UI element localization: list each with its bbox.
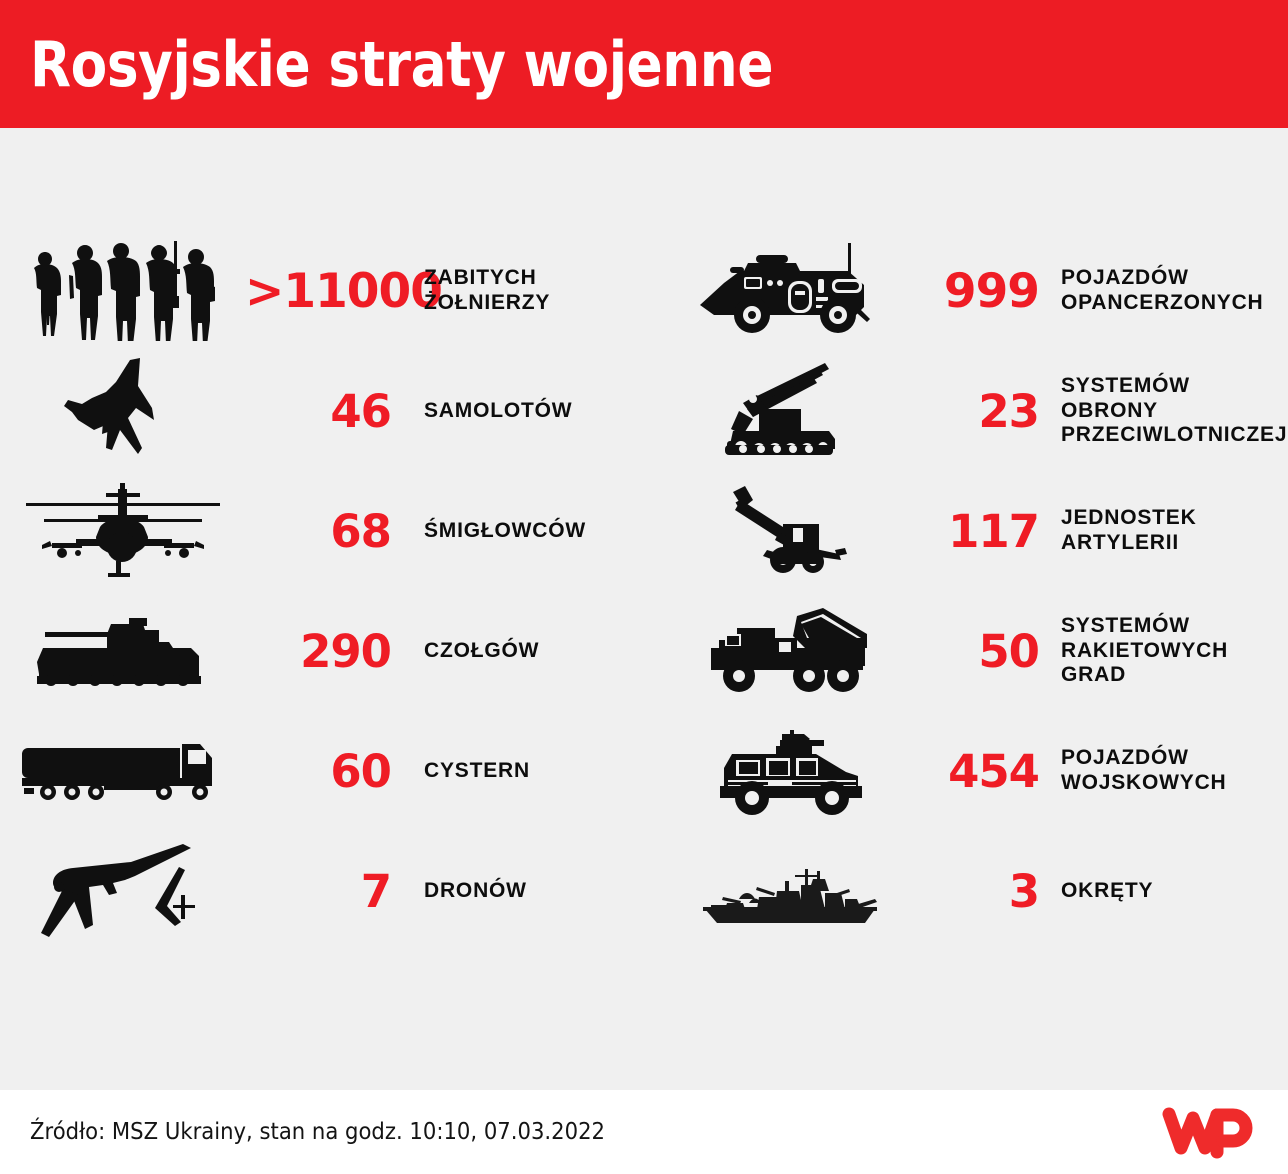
stat-value: >11000 (245, 268, 395, 315)
grad-rocket-launcher-icon (644, 591, 929, 711)
stat-label-line: PRZECIWLOTNICZEJ (1061, 423, 1288, 448)
stat-label: SYSTEMÓW RAKIETOWYCH GRAD (1039, 614, 1288, 688)
stat-row-soldiers: >11000 ZABITYCH ŻOŁNIERZY (0, 231, 644, 351)
stat-row-armored-vehicles: 999 POJAZDÓW OPANCERZONYCH (644, 231, 1288, 351)
tank-icon (0, 591, 245, 711)
source-text: Źródło: MSZ Ukrainy, stan na godz. 10:10… (30, 1119, 605, 1145)
stat-label: POJAZDÓW OPANCERZONYCH (1039, 266, 1288, 316)
stat-row-fuel-tankers: 60 CYSTERN (0, 711, 644, 831)
stat-label-line: ARTYLERII (1061, 531, 1288, 556)
stats-grid: >11000 ZABITYCH ŻOŁNIERZY 46 (0, 128, 1288, 1090)
stat-label-line: ZABITYCH (424, 266, 644, 291)
stat-label: JEDNOSTEK ARTYLERII (1039, 506, 1288, 556)
stat-label-line: ŚMIGŁOWCÓW (424, 519, 644, 544)
stat-value: 999 (929, 268, 1039, 315)
stat-row-air-defense: 23 SYSTEMÓW OBRONY PRZECIWLOTNICZEJ (644, 351, 1288, 471)
stat-label: CZOŁGÓW (395, 639, 644, 664)
stat-label-line: JEDNOSTEK (1061, 506, 1288, 531)
stat-label-line: OPANCERZONYCH (1061, 291, 1288, 316)
stat-value: 117 (929, 509, 1039, 554)
left-column: >11000 ZABITYCH ŻOŁNIERZY 46 (0, 128, 644, 1090)
right-column: 999 POJAZDÓW OPANCERZONYCH (644, 128, 1288, 1090)
stat-row-tanks: 290 CZOŁGÓW (0, 591, 644, 711)
wp-logo[interactable] (1160, 1105, 1256, 1159)
stat-label: CYSTERN (395, 759, 644, 784)
fuel-tanker-truck-icon (0, 711, 245, 831)
stat-label-line: OBRONY (1061, 399, 1288, 424)
stat-label-line: RAKIETOWYCH (1061, 639, 1288, 664)
page-title: Rosyjskie straty wojenne (30, 28, 773, 101)
stat-label: ŚMIGŁOWCÓW (395, 519, 644, 544)
stat-row-grad-rockets: 50 SYSTEMÓW RAKIETOWYCH GRAD (644, 591, 1288, 711)
drone-icon (0, 831, 245, 951)
stat-label-line: DRONÓW (424, 879, 644, 904)
howitzer-artillery-icon (644, 471, 929, 591)
stat-row-artillery: 117 JEDNOSTEK ARTYLERII (644, 471, 1288, 591)
stat-value: 50 (929, 629, 1039, 674)
infographic-root: Rosyjskie straty wojenne (0, 0, 1288, 1174)
stat-label-line: POJAZDÓW (1061, 746, 1288, 771)
stat-value: 46 (245, 389, 395, 434)
stat-value: 23 (929, 389, 1039, 434)
stat-label-line: CZOŁGÓW (424, 639, 644, 664)
stat-label-line: POJAZDÓW (1061, 266, 1288, 291)
stat-row-military-vehicles: 454 POJAZDÓW WOJSKOWYCH (644, 711, 1288, 831)
stat-row-drones: 7 DRONÓW (0, 831, 644, 951)
stat-label-line: OKRĘTY (1061, 879, 1288, 904)
stat-label: SAMOLOTÓW (395, 399, 644, 424)
stat-label-line: CYSTERN (424, 759, 644, 784)
stat-label-line: SAMOLOTÓW (424, 399, 644, 424)
stat-label-line: GRAD (1061, 663, 1288, 688)
stat-value: 7 (245, 869, 395, 914)
stat-label-line: WOJSKOWYCH (1061, 771, 1288, 796)
stat-label: SYSTEMÓW OBRONY PRZECIWLOTNICZEJ (1039, 374, 1288, 448)
stat-value: 60 (245, 749, 395, 794)
stat-row-warships: 3 OKRĘTY (644, 831, 1288, 951)
header-bar: Rosyjskie straty wojenne (0, 0, 1288, 128)
stat-label-line: ŻOŁNIERZY (424, 291, 644, 316)
fighter-jet-icon (0, 351, 245, 471)
warship-icon (644, 831, 929, 951)
stat-label: OKRĘTY (1039, 879, 1288, 904)
stat-label: ZABITYCH ŻOŁNIERZY (395, 266, 644, 316)
soldiers-icon (0, 231, 245, 351)
air-defense-system-icon (644, 351, 929, 471)
stat-label-line: SYSTEMÓW (1061, 374, 1288, 399)
footer-bar: Źródło: MSZ Ukrainy, stan na godz. 10:10… (0, 1090, 1288, 1174)
stat-label: DRONÓW (395, 879, 644, 904)
stat-label: POJAZDÓW WOJSKOWYCH (1039, 746, 1288, 796)
stat-value: 3 (929, 869, 1039, 914)
armored-personnel-carrier-icon (644, 231, 929, 351)
stat-value: 454 (929, 749, 1039, 794)
stat-value: 68 (245, 509, 395, 554)
helicopter-icon (0, 471, 245, 591)
stat-row-helicopters: 68 ŚMIGŁOWCÓW (0, 471, 644, 591)
stat-label-line: SYSTEMÓW (1061, 614, 1288, 639)
stat-value: 290 (245, 629, 395, 674)
military-jeep-icon (644, 711, 929, 831)
stat-row-aircraft: 46 SAMOLOTÓW (0, 351, 644, 471)
